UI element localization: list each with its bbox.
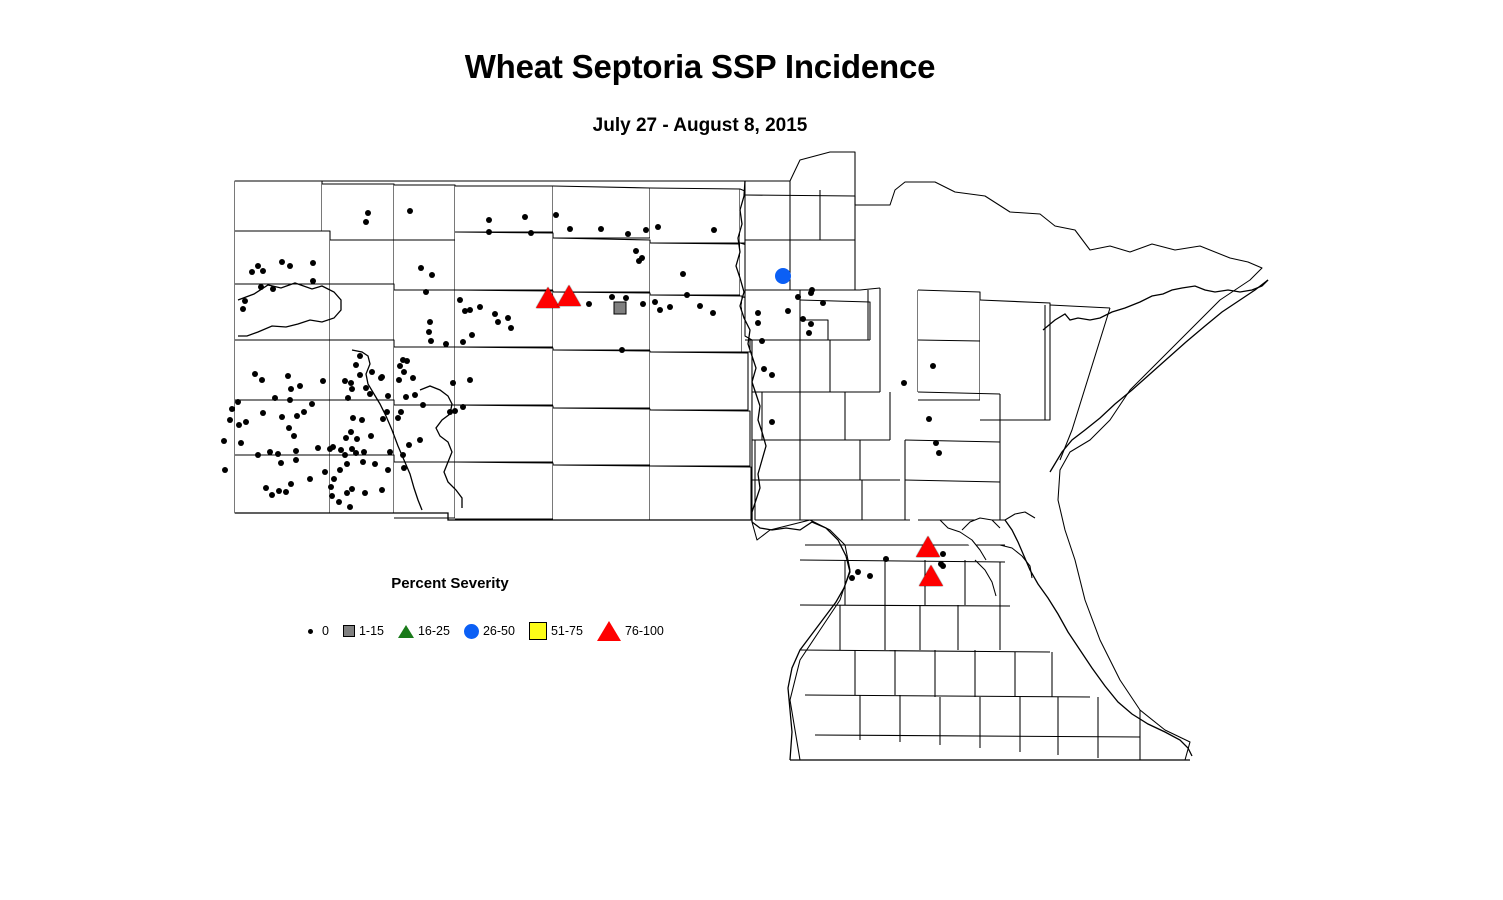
legend-item-16-25: 16-25 — [398, 624, 450, 638]
yellow-square-icon — [529, 622, 547, 640]
legend-label-0: 0 — [322, 624, 329, 638]
figure-root: Wheat Septoria SSP Incidence July 27 - A… — [0, 0, 1503, 900]
legend-label-16-25: 16-25 — [418, 624, 450, 638]
minnesota-counties — [745, 152, 1268, 760]
legend-item-76-100: 76-100 — [597, 621, 664, 641]
legend-items: 0 1-15 16-25 26-50 51-75 76-100 — [308, 621, 678, 641]
legend-item-1-15: 1-15 — [343, 624, 384, 638]
legend: Percent Severity 0 1-15 16-25 26-50 51-7… — [300, 575, 730, 655]
state-county-map — [0, 0, 1503, 900]
legend-item-51-75: 51-75 — [529, 622, 583, 640]
map-canvas — [0, 0, 1503, 900]
legend-label-26-50: 26-50 — [483, 624, 515, 638]
legend-item-26-50: 26-50 — [464, 624, 515, 639]
legend-title: Percent Severity — [300, 575, 600, 592]
black-dot-icon — [308, 629, 313, 634]
green-triangle-icon — [398, 625, 414, 638]
gray-square-icon — [343, 625, 355, 637]
legend-item-0: 0 — [308, 624, 329, 638]
legend-label-51-75: 51-75 — [551, 624, 583, 638]
legend-label-1-15: 1-15 — [359, 624, 384, 638]
legend-label-76-100: 76-100 — [625, 624, 664, 638]
blue-circle-icon — [464, 624, 479, 639]
red-triangle-icon — [597, 621, 621, 641]
north-dakota-counties — [235, 181, 752, 520]
